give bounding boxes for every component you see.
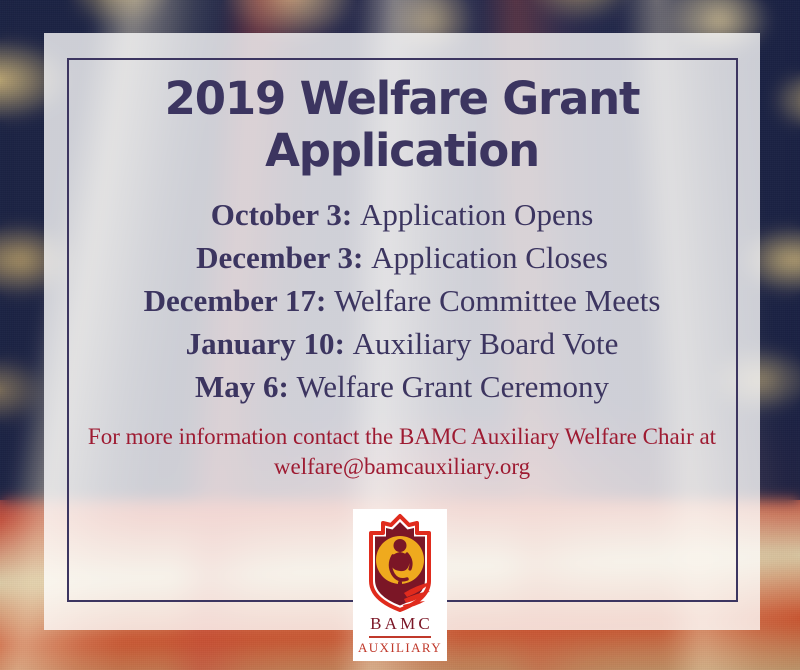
page-title: 2019 Welfare Grant Application <box>44 33 760 177</box>
schedule-separator: : <box>278 369 296 404</box>
schedule-description: Application Closes <box>371 240 608 275</box>
schedule-description: Welfare Committee Meets <box>334 283 660 318</box>
page-title-line-2: Application <box>265 124 539 177</box>
contact-info: For more information contact the BAMC Au… <box>72 422 732 482</box>
list-item: December 17: Welfare Committee Meets <box>44 279 760 322</box>
bamc-auxiliary-logo: BAMC AUXILIARY <box>353 509 447 661</box>
logo-divider <box>369 636 431 638</box>
schedule-description: Welfare Grant Ceremony <box>297 369 610 404</box>
list-item: May 6: Welfare Grant Ceremony <box>44 365 760 408</box>
logo-subtitle: AUXILIARY <box>353 640 447 656</box>
schedule-date: December 17 <box>144 283 316 318</box>
schedule-date: January 10 <box>186 326 335 361</box>
schedule-separator: : <box>353 240 371 275</box>
schedule-date: May 6 <box>195 369 279 404</box>
page-title-line-1: 2019 Welfare Grant <box>165 72 640 125</box>
schedule-date: December 3 <box>196 240 353 275</box>
list-item: December 3: Application Closes <box>44 236 760 279</box>
list-item: October 3: Application Opens <box>44 193 760 236</box>
schedule-separator: : <box>316 283 334 318</box>
schedule-description: Application Opens <box>360 197 593 232</box>
logo-title: BAMC <box>353 614 447 634</box>
welfare-grant-poster: 2019 Welfare Grant Application October 3… <box>0 0 800 670</box>
bamc-rose-shield-icon <box>357 513 443 613</box>
schedule-description: Auxiliary Board Vote <box>353 326 619 361</box>
contact-line-1: For more information contact the BAMC Au… <box>88 424 637 449</box>
schedule-list: October 3: Application Opens December 3:… <box>44 193 760 408</box>
schedule-date: October 3 <box>211 197 342 232</box>
schedule-separator: : <box>335 326 353 361</box>
schedule-separator: : <box>342 197 360 232</box>
list-item: January 10: Auxiliary Board Vote <box>44 322 760 365</box>
